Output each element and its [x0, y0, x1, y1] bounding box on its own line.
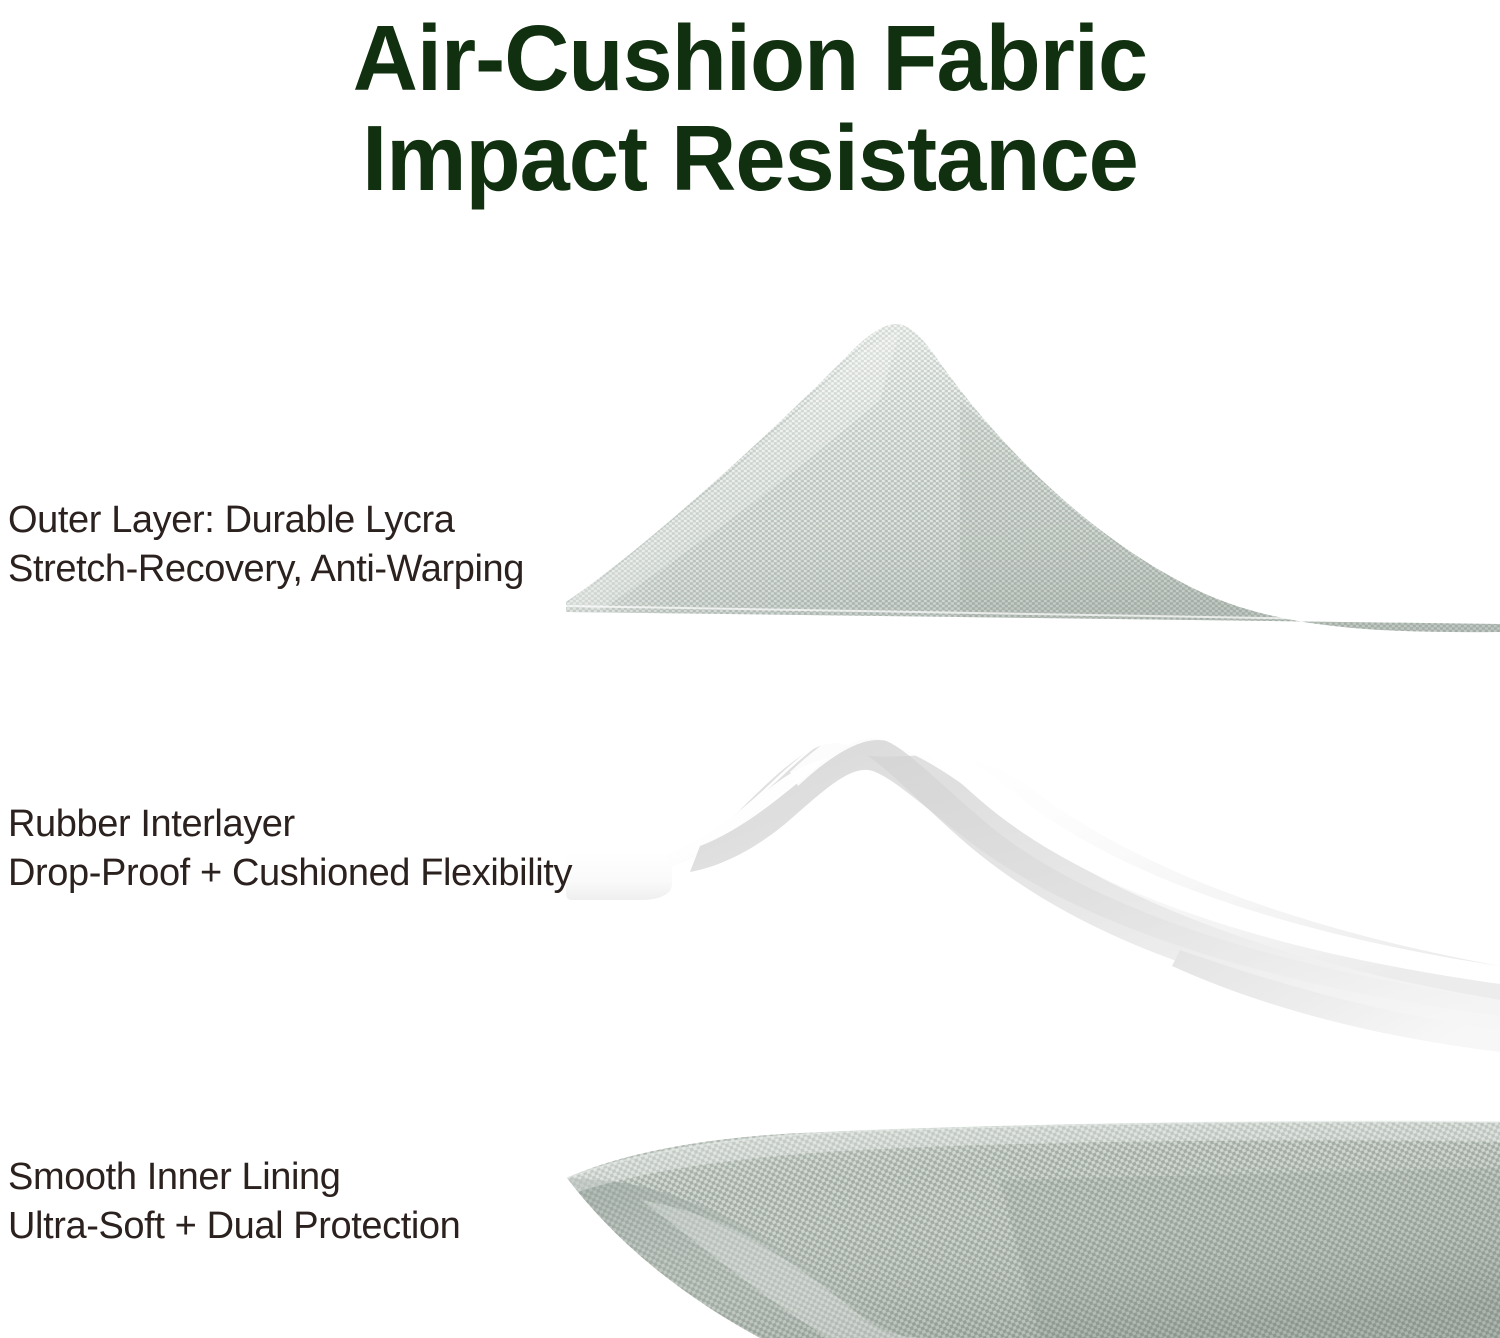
inner-lining-swatch [540, 1100, 1500, 1338]
caption-rubber-interlayer: Rubber Interlayer Drop-Proof + Cushioned… [8, 800, 572, 898]
caption-inner-lining: Smooth Inner Lining Ultra-Soft + Dual Pr… [8, 1153, 460, 1251]
rubber-interlayer-swatch [566, 720, 1500, 1052]
product-infographic: Air-Cushion Fabric Impact Resistance [0, 0, 1500, 1338]
caption-rubber-subheading: Drop-Proof + Cushioned Flexibility [8, 849, 572, 898]
fabric-layer-diagram [0, 0, 1500, 1338]
outer-layer-swatch [540, 300, 1500, 640]
caption-outer-heading: Outer Layer: Durable Lycra [8, 496, 524, 545]
caption-inner-subheading: Ultra-Soft + Dual Protection [8, 1202, 460, 1251]
caption-rubber-heading: Rubber Interlayer [8, 800, 572, 849]
caption-inner-heading: Smooth Inner Lining [8, 1153, 460, 1202]
caption-outer-layer: Outer Layer: Durable Lycra Stretch-Recov… [8, 496, 524, 594]
caption-outer-subheading: Stretch-Recovery, Anti-Warping [8, 545, 524, 594]
